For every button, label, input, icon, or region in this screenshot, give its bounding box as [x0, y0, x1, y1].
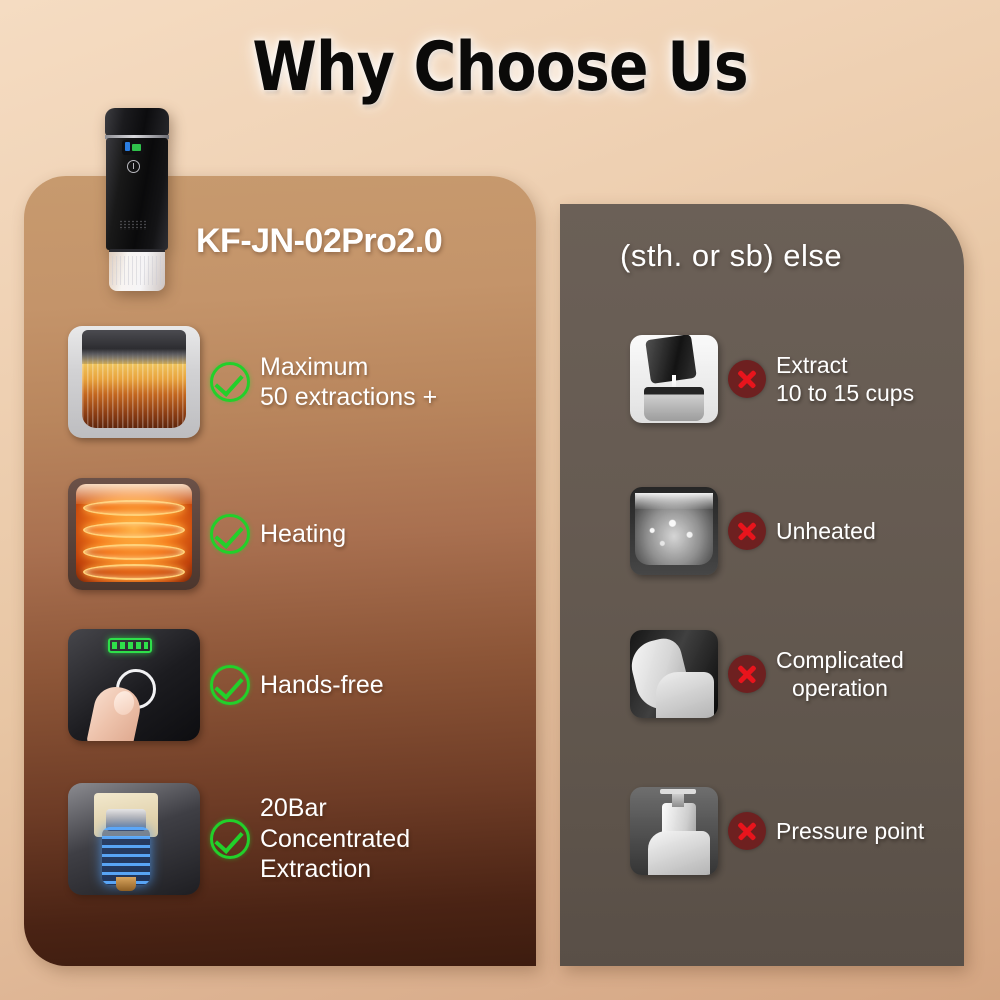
product-model-name: KF-JN-02Pro2.0 — [196, 222, 442, 261]
check-circle-icon — [210, 362, 250, 402]
check-circle-icon — [210, 819, 250, 859]
page-title: Why Choose Us — [252, 34, 747, 102]
cross-circle-icon — [728, 812, 766, 850]
check-circle-icon — [210, 514, 250, 554]
check-circle-icon — [210, 665, 250, 705]
feature-label-others-4: Pressure point — [776, 817, 924, 845]
product-display-icon — [122, 140, 144, 155]
feature-label-ours-1: Maximum 50 extractions + — [260, 352, 437, 413]
feature-row-others-2: Unheated — [630, 487, 960, 575]
feature-row-ours-3: Hands-free — [68, 629, 508, 741]
cold-brew-vessel-photo-icon — [630, 487, 718, 575]
cross-circle-icon — [728, 360, 766, 398]
feature-row-ours-1: Maximum 50 extractions + — [68, 326, 508, 438]
feature-row-others-1: Extract 10 to 15 cups — [630, 335, 960, 423]
feature-row-ours-4: 20Bar Concentrated Extraction — [68, 783, 508, 895]
hand-pressing-bottle-photo-icon — [630, 787, 718, 875]
feature-row-ours-2: Heating — [68, 478, 508, 590]
feature-label-ours-4: 20Bar Concentrated Extraction — [260, 793, 410, 885]
product-cup-base — [109, 249, 165, 291]
hand-gripping-photo-icon — [630, 630, 718, 718]
feature-label-others-1: Extract 10 to 15 cups — [776, 351, 914, 407]
product-vent — [119, 220, 147, 230]
pouring-device-photo-icon — [630, 335, 718, 423]
product-cap — [105, 108, 169, 136]
cross-circle-icon — [728, 512, 766, 550]
finger-power-button-photo-icon — [68, 629, 200, 741]
heating-coils-photo-icon — [68, 478, 200, 590]
feature-label-ours-2: Heating — [260, 519, 346, 550]
pressure-pump-cutaway-photo-icon — [68, 783, 200, 895]
page-title-container: Why Choose Us — [0, 34, 1000, 102]
portable-espresso-machine-icon — [101, 108, 173, 290]
product-power-button-icon — [127, 160, 140, 173]
layered-espresso-glass-photo-icon — [68, 326, 200, 438]
feature-label-others-2: Unheated — [776, 517, 876, 545]
competitor-header: (sth. or sb) else — [620, 238, 842, 274]
cross-circle-icon — [728, 655, 766, 693]
feature-row-others-3: Complicated operation — [630, 630, 960, 718]
feature-row-others-4: Pressure point — [630, 787, 960, 875]
feature-label-ours-3: Hands-free — [260, 670, 384, 701]
feature-label-others-3: Complicated operation — [776, 646, 904, 702]
